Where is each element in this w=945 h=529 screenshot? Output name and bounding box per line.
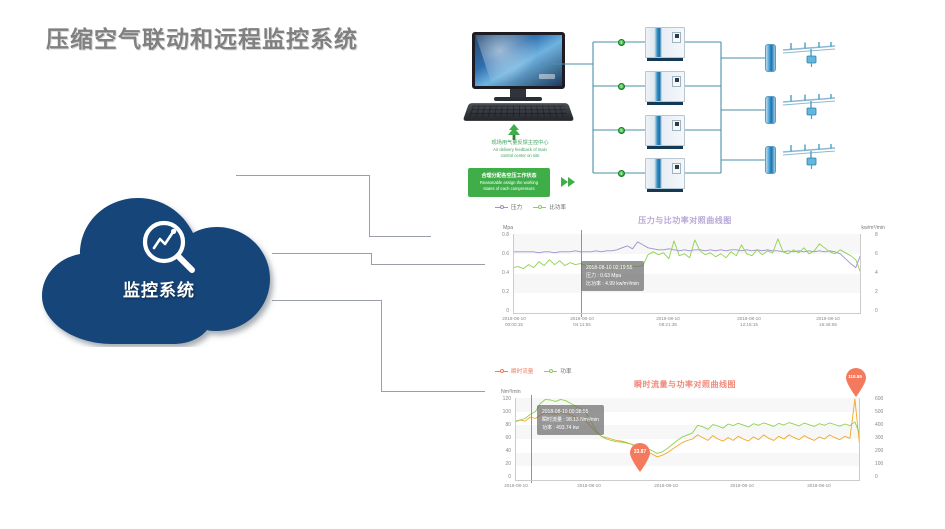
- chart1-y2tick: 6: [875, 251, 897, 257]
- legend-marker-icon: [544, 368, 557, 374]
- chart2-y-unit: Nm³/min: [501, 389, 521, 395]
- page-title: 压缩空气联动和远程监控系统: [46, 20, 358, 54]
- data-pin-marker[interactable]: [629, 443, 651, 472]
- distribution-pipeline: [781, 144, 837, 172]
- chart1-legend[interactable]: 压力 比功率: [495, 203, 566, 211]
- legend-marker-icon: [495, 204, 508, 210]
- chart2-ytick: 60: [487, 435, 511, 441]
- legend-label: 压力: [511, 203, 522, 211]
- air-tank: [765, 96, 776, 124]
- chart1-y2tick: 0: [875, 308, 897, 314]
- chart2-legend[interactable]: 瞬时流量 功率: [495, 367, 572, 375]
- chart2-y2tick: 300: [875, 435, 899, 441]
- xtick-time: 04:11:55: [553, 322, 611, 328]
- chart2-y2tick: 200: [875, 448, 899, 454]
- monitoring-cloud[interactable]: 监控系统: [34, 192, 284, 347]
- chart1-ytick: 0.8: [487, 232, 509, 238]
- chart2-tooltip-line: 瞬时流量 : 98.13 Nm³/min: [542, 416, 599, 424]
- chart1-tooltip: 2018-08-10 02:19:55 压力 : 0.63 Mpa 比功率 : …: [581, 261, 644, 291]
- xtick-time: 08:21:35: [639, 322, 697, 328]
- air-tank: [765, 44, 776, 72]
- chart2-y2tick: 400: [875, 422, 899, 428]
- chart2-xtick: 2018-08-10: [790, 483, 848, 489]
- chart1-y-unit: Mpa: [503, 225, 513, 231]
- chart2-ytick: 100: [487, 409, 511, 415]
- compressor-unit: [645, 27, 685, 58]
- chart2-xtick: 2018-08-10: [560, 483, 618, 489]
- xtick-time: 16:46:55: [799, 322, 857, 328]
- chart2-y2tick: 500: [875, 409, 899, 415]
- chart1-ytick: 0.6: [487, 251, 509, 257]
- compressor-unit: [645, 115, 685, 146]
- legend-item-power[interactable]: 功率: [544, 367, 571, 375]
- chart2-ytick: 120: [487, 396, 511, 402]
- node-indicator: 3: [618, 127, 625, 134]
- legend-marker-icon: [495, 368, 508, 374]
- node-indicator: 1: [618, 39, 625, 46]
- compressor-unit: [645, 71, 685, 102]
- pressure-specific-power-chart[interactable]: 压力 比功率 压力与比功率对照曲线图 Mpa kw/m³/min 0.8 0.6…: [485, 203, 885, 333]
- chart2-ytick: 0: [487, 474, 511, 480]
- xtick-time: 12:15:15: [720, 322, 778, 328]
- data-pin-label: 33.87: [629, 449, 651, 455]
- chart2-y2tick: 600: [875, 396, 899, 402]
- chart1-y2tick: 4: [875, 270, 897, 276]
- magnifier-chart-icon: [137, 218, 201, 276]
- node-label: 1: [619, 39, 624, 46]
- distribution-pipeline: [781, 42, 837, 70]
- compressor-unit: [645, 158, 685, 189]
- flow-power-chart[interactable]: 瞬时流量 功率 瞬时流量与功率对照曲线图 Nm³/min 120 100 80 …: [485, 367, 885, 507]
- xtick-time: 00:00:15: [485, 322, 543, 328]
- chart1-plot-area[interactable]: [513, 234, 861, 313]
- chart1-title: 压力与比功率对照曲线图: [485, 215, 885, 226]
- chart2-y2tick: 100: [875, 461, 899, 467]
- chart1-xtick: 2018-08-10 08:21:35: [639, 316, 697, 328]
- chart2-ytick: 20: [487, 461, 511, 467]
- chart1-y2tick: 2: [875, 289, 897, 295]
- system-diagram: 现场用气量反馈主控中心 Air delivery feedback of mai…: [433, 18, 945, 200]
- chart2-tooltip-time: 2018-08-10 00:38:55: [542, 408, 599, 416]
- legend-label: 功率: [560, 367, 571, 375]
- chart1-tooltip-line: 压力 : 0.63 Mpa: [586, 272, 639, 280]
- chart1-ytick: 0.4: [487, 270, 509, 276]
- chart2-y2tick: 0: [875, 474, 899, 480]
- chart1-xtick: 2018-08-10 00:00:15: [485, 316, 543, 328]
- legend-label: 瞬时流量: [511, 367, 533, 375]
- chart2-crosshair: [531, 395, 532, 483]
- chart2-title: 瞬时流量与功率对照曲线图: [485, 379, 885, 390]
- chart2-tooltip: 2018-08-10 00:38:55 瞬时流量 : 98.13 Nm³/min…: [537, 405, 604, 435]
- chart1-ytick: 0: [487, 308, 509, 314]
- node-label: 2: [619, 83, 624, 90]
- chart1-y2-unit: kw/m³/min: [861, 225, 885, 231]
- cloud-label: 监控系统: [34, 276, 284, 301]
- chart2-xtick: 2018-08-10: [637, 483, 695, 489]
- chart1-xtick: 2018-08-10 12:15:15: [720, 316, 778, 328]
- chart1-tooltip-line: 比功率 : 4.99 kw/m³/min: [586, 280, 639, 288]
- node-indicator: 4: [618, 170, 625, 177]
- chart1-xtick: 2018-08-10 04:11:55: [553, 316, 611, 328]
- node-label: 4: [619, 170, 624, 177]
- air-tank: [765, 146, 776, 174]
- chart2-ytick: 40: [487, 448, 511, 454]
- legend-marker-icon: [533, 204, 546, 210]
- chart2-tooltip-line: 功率 : 493.74 kw: [542, 424, 599, 432]
- chart1-xtick: 2018-08-10 16:46:55: [799, 316, 857, 328]
- legend-item-specific-power[interactable]: 比功率: [533, 203, 566, 211]
- chart1-series-lines: [513, 234, 861, 313]
- chart1-y2tick: 8: [875, 232, 897, 238]
- legend-label: 比功率: [549, 203, 566, 211]
- legend-item-flow[interactable]: 瞬时流量: [495, 367, 533, 375]
- node-indicator: 2: [618, 83, 625, 90]
- chart2-xtick: 2018-08-10: [487, 483, 545, 489]
- piping-network: [433, 18, 945, 200]
- distribution-pipeline: [781, 94, 837, 122]
- node-label: 3: [619, 127, 624, 134]
- chart2-xtick: 2018-08-10: [713, 483, 771, 489]
- data-pin-marker[interactable]: [845, 368, 867, 397]
- data-pin-label: 118.55: [844, 374, 866, 379]
- chart2-ytick: 80: [487, 422, 511, 428]
- chart1-tooltip-time: 2018-08-10 02:19:55: [586, 264, 639, 272]
- chart1-ytick: 0.2: [487, 289, 509, 295]
- legend-item-pressure[interactable]: 压力: [495, 203, 522, 211]
